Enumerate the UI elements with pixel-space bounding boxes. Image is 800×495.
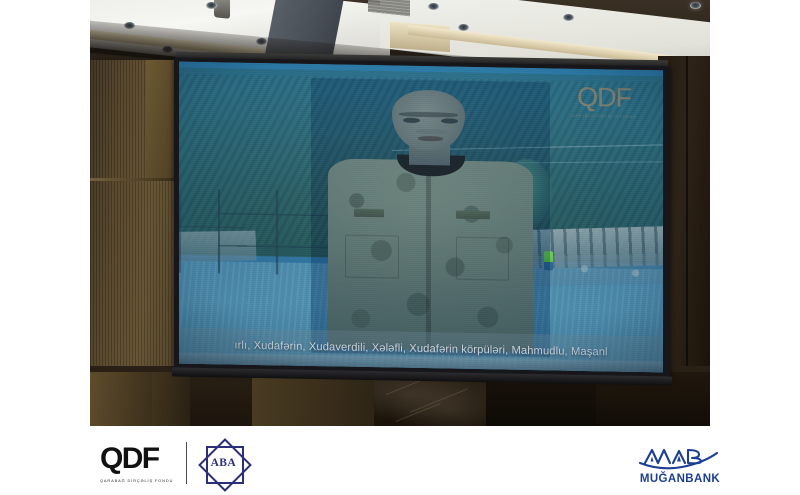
wood-pillar (252, 372, 374, 426)
event-photograph: QDF QARABAG DIRCALIS FONDU ırlı, Xudafər… (90, 0, 710, 426)
muganbank-mark-icon (637, 444, 723, 470)
sponsor-logo-footer: QDF QARABAĞ DİRÇƏLİŞ FONDU ABA (0, 426, 800, 495)
muganbank-wordmark: MUĞANBANK (623, 473, 737, 485)
uniform-patch-left (354, 208, 384, 217)
wood-pillar (90, 372, 152, 426)
jacket-pocket-right (456, 236, 509, 281)
projected-video-image: QDF QARABAG DIRCALIS FONDU ırlı, Xudafər… (179, 62, 663, 373)
stone-vein (396, 403, 441, 422)
stone-vein (410, 388, 468, 412)
qdf-logo: QDF QARABAĞ DİRÇƏLİŞ FONDU (100, 444, 173, 483)
ceiling-speaker (214, 0, 230, 19)
aba-wordmark: ABA (200, 440, 246, 486)
projected-worker-in-hi-vis-vest (544, 251, 553, 271)
downlight-icon (563, 14, 574, 21)
page-root: QDF QARABAG DIRCALIS FONDU ırlı, Xudafər… (0, 0, 800, 495)
qdf-tagline: QARABAĞ DİRÇƏLİŞ FONDU (100, 478, 173, 483)
qdf-watermark-text: QDF (572, 84, 637, 112)
qdf-wordmark: QDF (100, 444, 173, 474)
downlight-icon (690, 2, 701, 9)
logo-divider (186, 442, 187, 484)
left-logo-group: QDF QARABAĞ DİRÇƏLİŞ FONDU ABA (100, 440, 246, 486)
downlight-icon (206, 2, 217, 9)
jacket-placket (426, 168, 430, 350)
qdf-watermark: QDF QARABAG DIRCALIS FONDU (572, 84, 637, 119)
left-wall-seam (90, 178, 182, 181)
muganbank-logo: MUĞANBANK (623, 444, 737, 485)
projected-speaker-figure (324, 88, 537, 352)
aba-logo: ABA (200, 440, 246, 486)
uniform-patch-right (456, 210, 490, 219)
jacket-pocket-left (345, 234, 398, 279)
wood-pillar (152, 372, 190, 426)
downlight-icon (428, 3, 439, 10)
downlight-icon (458, 24, 469, 31)
projected-scaffolding (179, 194, 247, 274)
